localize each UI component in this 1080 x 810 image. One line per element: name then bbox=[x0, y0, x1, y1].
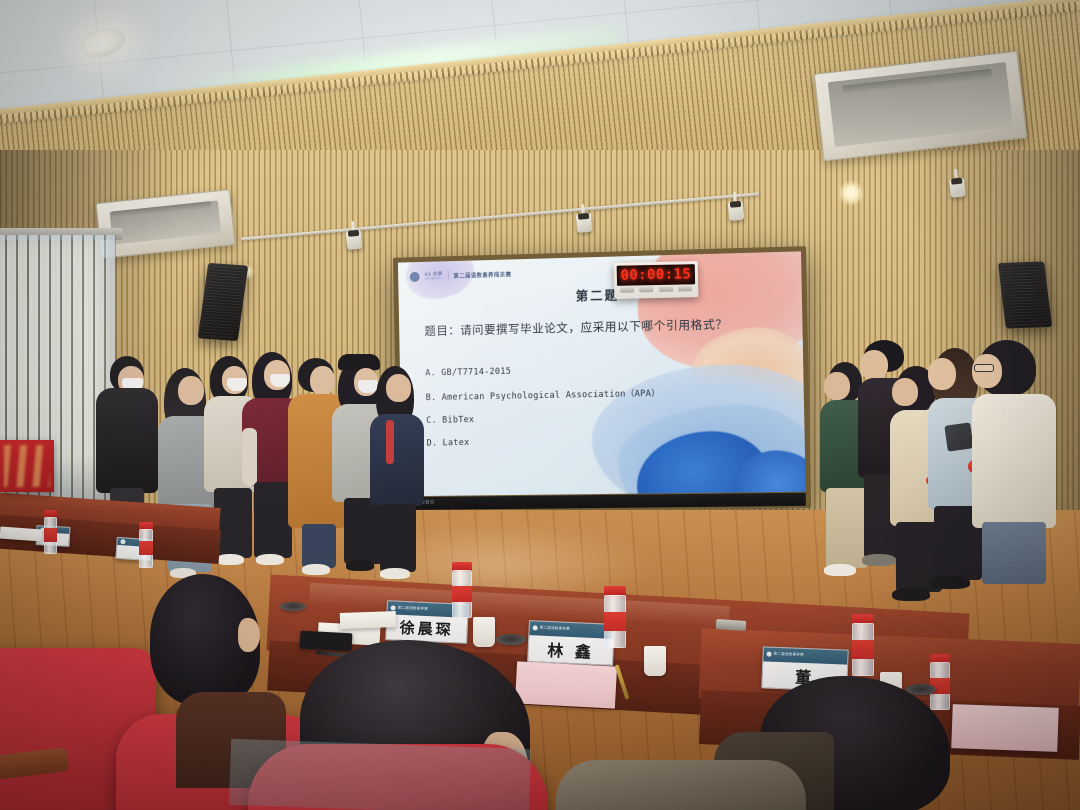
led-display-wall[interactable]: XX 大学 UNIVERSITY 第二届语数素养闯关赛 第二题 题目：请问要撰写… bbox=[393, 246, 811, 512]
glass-partition bbox=[229, 739, 531, 810]
paper-cup bbox=[473, 617, 495, 647]
event-title: 第二届语数素养闯关赛 bbox=[453, 270, 511, 279]
water-bottle bbox=[604, 586, 626, 648]
scoring-sheet[interactable] bbox=[515, 661, 617, 708]
glasses-icon bbox=[974, 364, 994, 372]
document-sheet[interactable] bbox=[340, 611, 397, 629]
option-d: D. Latex bbox=[427, 433, 785, 448]
speaker-right bbox=[998, 261, 1052, 328]
nameplate-org: 第二届语数素养赛 bbox=[773, 652, 804, 658]
timer-button-set[interactable] bbox=[678, 286, 692, 291]
remote-control[interactable] bbox=[716, 619, 747, 631]
spotlight-glow bbox=[838, 180, 864, 206]
timer-button-reset[interactable] bbox=[659, 287, 673, 292]
option-a: A. GB/T7714-2015 bbox=[425, 361, 783, 378]
nameplate-name: 林 鑫 bbox=[528, 635, 613, 665]
nameplate-name: 徐晨琛 bbox=[386, 614, 467, 643]
water-bottle bbox=[930, 654, 950, 710]
timer-button-start[interactable] bbox=[620, 287, 634, 292]
option-list: A. GB/T7714-2015 B. American Psychologic… bbox=[425, 361, 784, 461]
speaker-left-grill bbox=[201, 266, 245, 338]
lanyard bbox=[386, 420, 394, 464]
nameplate-logo-icon bbox=[390, 605, 395, 610]
nameplate-logo-icon bbox=[533, 626, 538, 631]
hoodie-graphic bbox=[944, 422, 973, 451]
nameplate-org: 第二届语数素养赛 bbox=[540, 626, 571, 632]
tablet-device[interactable] bbox=[300, 631, 353, 652]
ashtray-dish bbox=[280, 602, 306, 611]
university-subtitle: UNIVERSITY bbox=[424, 277, 442, 281]
person-foreground-shoulder bbox=[556, 760, 806, 810]
paper-cup bbox=[644, 646, 666, 676]
scoring-sheet[interactable] bbox=[951, 704, 1058, 752]
slide-header: XX 大学 UNIVERSITY 第二届语数素养闯关赛 bbox=[410, 268, 512, 282]
water-bottle bbox=[452, 562, 472, 618]
timer-buttons[interactable] bbox=[617, 284, 695, 293]
option-b: B. American Psychological Association（AP… bbox=[426, 385, 784, 404]
university-seal-icon bbox=[410, 271, 420, 281]
countdown-timer[interactable]: 00:00:15 bbox=[614, 261, 699, 299]
nameplate-logo-icon bbox=[766, 652, 771, 657]
photo-scene: XX 大学 UNIVERSITY 第二届语数素养闯关赛 第二题 题目：请问要撰写… bbox=[0, 0, 1080, 810]
option-c: C. BibTex bbox=[426, 410, 784, 426]
red-banner-decor bbox=[0, 440, 54, 492]
bucket-hat bbox=[338, 354, 380, 370]
speaker-right-grill bbox=[1001, 265, 1048, 326]
timer-digits: 00:00:15 bbox=[620, 266, 691, 283]
water-bottle bbox=[852, 614, 874, 676]
timer-button-stop[interactable] bbox=[639, 287, 653, 292]
timer-lcd: 00:00:15 bbox=[617, 264, 695, 286]
header-divider bbox=[448, 270, 449, 281]
nameplate-lin-xin: 第二届语数素养赛 林 鑫 bbox=[527, 620, 615, 666]
water-bottle bbox=[139, 522, 153, 568]
water-bottle bbox=[44, 510, 57, 554]
nameplate-org: 第二届语数素养赛 bbox=[397, 606, 428, 612]
ashtray-dish bbox=[496, 634, 526, 645]
slide-surface: XX 大学 UNIVERSITY 第二届语数素养闯关赛 第二题 题目：请问要撰写… bbox=[398, 251, 806, 496]
